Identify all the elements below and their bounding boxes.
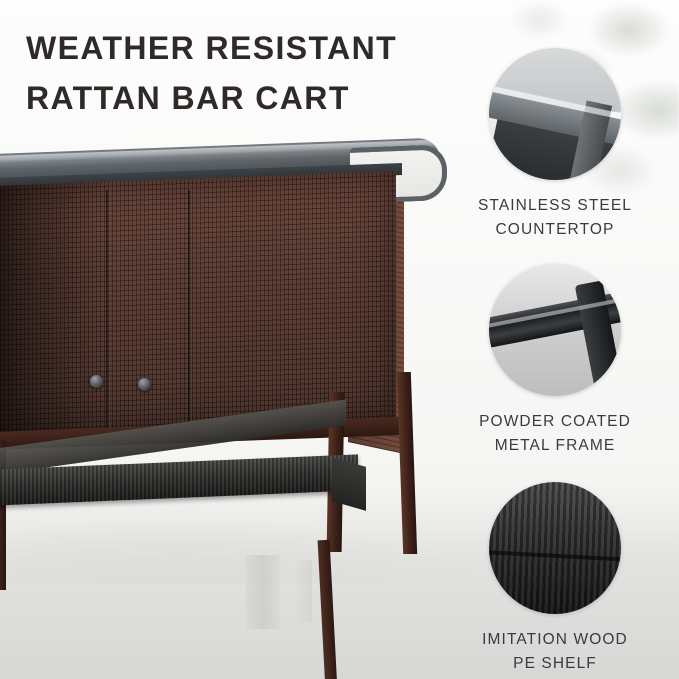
feature-label-countertop-line-2: COUNTERTOP bbox=[455, 218, 655, 242]
feature-stainless-steel-countertop: STAINLESS STEEL COUNTERTOP bbox=[455, 48, 655, 242]
countertop-detail-photo bbox=[489, 48, 621, 180]
feature-label-shelf-line-2: PE SHELF bbox=[455, 652, 655, 676]
cabinet-handle-right bbox=[138, 378, 151, 391]
feature-label-frame: POWDER COATED METAL FRAME bbox=[455, 410, 655, 458]
page-title: WEATHER RESISTANT RATTAN BAR CART bbox=[26, 24, 496, 123]
feature-label-shelf: IMITATION WOOD PE SHELF bbox=[455, 628, 655, 676]
shelf-detail-seam bbox=[489, 550, 621, 561]
feature-label-frame-line-1: POWDER COATED bbox=[455, 410, 655, 434]
bar-cart-product bbox=[0, 140, 462, 640]
feature-list: STAINLESS STEEL COUNTERTOP POWDER COATED… bbox=[455, 48, 655, 676]
cabinet-shadow bbox=[0, 182, 110, 436]
feature-label-countertop-line-1: STAINLESS STEEL bbox=[455, 194, 655, 218]
feature-label-shelf-line-1: IMITATION WOOD bbox=[455, 628, 655, 652]
feature-label-countertop: STAINLESS STEEL COUNTERTOP bbox=[455, 194, 655, 242]
shelf-right-edge bbox=[332, 457, 366, 511]
feature-imitation-wood-pe-shelf: IMITATION WOOD PE SHELF bbox=[455, 482, 655, 676]
feature-powder-coated-metal-frame: POWDER COATED METAL FRAME bbox=[455, 264, 655, 458]
headline-line-1: WEATHER RESISTANT bbox=[26, 30, 397, 66]
feature-label-frame-line-2: METAL FRAME bbox=[455, 434, 655, 458]
frame-detail-photo bbox=[489, 264, 621, 396]
cart-leg-right bbox=[397, 372, 417, 554]
cabinet-door-seam-right bbox=[188, 190, 192, 432]
product-feature-image: WEATHER RESISTANT RATTAN BAR CART STAINL… bbox=[0, 0, 679, 679]
headline-line-2: RATTAN BAR CART bbox=[26, 74, 496, 124]
cabinet-handle-left bbox=[90, 375, 103, 388]
shelf-detail-photo bbox=[489, 482, 621, 614]
cabinet-door-seam-left bbox=[106, 190, 110, 432]
